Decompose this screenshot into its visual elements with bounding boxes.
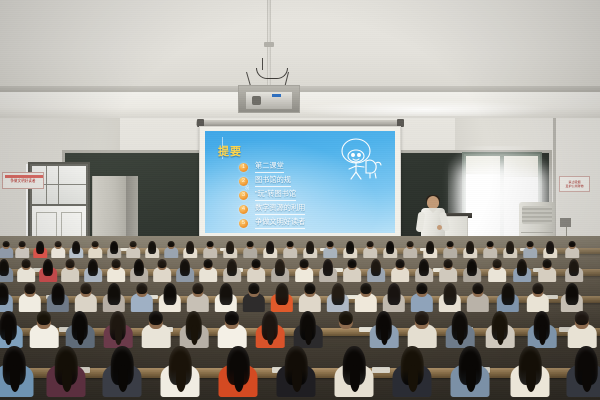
audience-member	[567, 344, 600, 395]
audience-member	[483, 240, 497, 258]
audience-member	[103, 344, 142, 395]
audience-member-hair	[148, 241, 156, 255]
audience-member	[497, 282, 519, 311]
audience-member	[47, 344, 86, 395]
audience-member-hair	[168, 241, 175, 248]
audience-member	[561, 282, 583, 311]
audience-member-hair	[72, 241, 80, 255]
audience-member-hair	[227, 259, 237, 277]
audience-member	[538, 258, 556, 281]
audience-member-hair	[415, 311, 429, 325]
audience-member	[0, 310, 22, 347]
audience-member	[370, 310, 399, 347]
desk-paper	[372, 367, 390, 374]
audience-member-hair	[360, 283, 371, 294]
audience-member-hair	[247, 241, 254, 248]
audience-member-hair	[569, 259, 579, 277]
slide-list-item: 4 数字资源的利用	[239, 202, 367, 216]
audience-member	[443, 240, 457, 258]
audience-member-hair	[276, 283, 289, 305]
audience-member	[319, 258, 337, 281]
slide-item-number: 1	[239, 163, 248, 172]
audience-member-ponytail	[118, 365, 129, 392]
audience-member-hair	[136, 283, 147, 294]
audience-member	[411, 282, 433, 311]
audience-member-hair	[108, 283, 121, 305]
audience-member-hair	[92, 241, 99, 248]
audience-member-hair	[226, 241, 234, 255]
audience-member-hair	[447, 241, 454, 248]
audience-member	[153, 258, 171, 281]
audience-member-hair	[52, 283, 65, 305]
audience-member-hair	[327, 241, 334, 248]
audience-member-hair	[287, 241, 294, 248]
audience-member	[367, 258, 385, 281]
projector-indicator-led	[272, 94, 281, 97]
audience-member	[130, 258, 148, 281]
slide-item-text: "玩"转图书馆	[255, 189, 296, 201]
audience-member	[439, 282, 461, 311]
audience-member	[51, 240, 65, 258]
audience-member-hair	[3, 241, 10, 248]
audience-member-ponytail	[526, 365, 537, 392]
audience-member	[243, 240, 257, 258]
audience-member-ponytail	[350, 365, 361, 392]
audience-member-hair	[487, 241, 494, 248]
audience-member	[17, 258, 35, 281]
audience-member	[30, 310, 59, 347]
slide-title: 提要	[218, 143, 242, 159]
audience-member	[39, 258, 57, 281]
audience-member-hair	[204, 259, 213, 268]
audience-member	[403, 240, 417, 258]
audience-member-hair	[186, 241, 194, 255]
audience-member	[283, 240, 297, 258]
audience-member-hair	[24, 283, 35, 294]
audience-member-hair	[346, 241, 354, 255]
audience-member-hair	[407, 241, 414, 248]
audience-member-hair	[164, 283, 177, 305]
classroom-photo: 争做文明好读者 禁止吸烟 爱护公共财物 提要	[0, 0, 600, 400]
audience-member	[218, 310, 247, 347]
audience-member-hair	[566, 283, 579, 305]
audience-member	[355, 282, 377, 311]
audience-member	[0, 258, 13, 281]
audience-member-hair	[323, 259, 333, 277]
audience-member	[187, 282, 209, 311]
audience-member	[295, 258, 313, 281]
audience-member	[543, 240, 557, 258]
audience-member	[88, 240, 102, 258]
slide-item-number: 4	[239, 205, 248, 214]
audience-member-hair	[371, 259, 381, 277]
audience-member	[75, 282, 97, 311]
audience-member-hair	[192, 283, 203, 294]
audience-member-ponytail	[292, 365, 303, 392]
audience-member	[126, 240, 140, 258]
projected-slide: 提要 1 第二课堂	[205, 131, 395, 233]
conduit-band	[264, 42, 274, 47]
audience-member-hair	[419, 259, 429, 277]
audience-member-hair	[300, 259, 309, 268]
audience-member-ponytail	[234, 365, 245, 392]
audience-member	[203, 240, 217, 258]
audience-member	[463, 240, 477, 258]
audience-member	[327, 282, 349, 311]
audience-member	[159, 282, 181, 311]
audience-member-hair	[112, 259, 121, 268]
audience-member	[84, 258, 102, 281]
left-wall-sign: 争做文明好读者	[2, 172, 44, 189]
audience-member	[271, 258, 289, 281]
audience-member	[263, 240, 277, 258]
audience-member-hair	[220, 283, 233, 305]
audience-member	[69, 240, 83, 258]
audience-member	[103, 282, 125, 311]
audience-member	[408, 310, 437, 347]
audience-member	[335, 344, 374, 395]
audience-member	[488, 258, 506, 281]
audience-member	[467, 282, 489, 311]
audience-member	[0, 282, 13, 311]
audience-member	[107, 240, 121, 258]
slide-item-number: 5	[239, 219, 248, 228]
right-wall-sign-line-2: 爱护公共财物	[565, 184, 583, 188]
audience-member-hair	[36, 241, 44, 255]
audience-member-hair	[502, 283, 515, 305]
audience-member	[19, 282, 41, 311]
audience-member	[243, 282, 265, 311]
audience-member-hair	[37, 311, 51, 325]
audience-member-hair	[396, 259, 405, 268]
audience-member-hair	[149, 311, 163, 325]
audience-member	[383, 240, 397, 258]
audience-member-hair	[180, 259, 190, 277]
presenter-hand	[437, 225, 442, 230]
audience-member	[503, 240, 517, 258]
slide-superscript-mark: 况	[245, 185, 249, 191]
audience-member	[528, 310, 557, 347]
audience-member	[164, 240, 178, 258]
ceiling-light-glow	[300, 100, 550, 116]
audience-member	[527, 282, 549, 311]
audience-member-hair	[444, 283, 457, 305]
audience-member	[107, 258, 125, 281]
audience-member	[161, 344, 200, 395]
audience-member-hair	[134, 259, 144, 277]
audience-member	[15, 240, 29, 258]
audience-member-hair	[388, 283, 401, 305]
audience-member	[446, 310, 475, 347]
audience-member	[343, 258, 361, 281]
audience-member	[391, 258, 409, 281]
audience-member-hair	[66, 259, 75, 268]
audience-member-hair	[225, 311, 239, 325]
audience-member-hair	[426, 241, 434, 255]
audience-member-hair	[348, 259, 357, 268]
audience-member-ponytail	[62, 365, 73, 392]
audience-member-hair	[275, 259, 285, 277]
window-blind[interactable]	[504, 156, 538, 177]
audience-member	[332, 310, 361, 347]
slide-item-text: 图书馆的规	[255, 175, 291, 187]
slide-list-item: 2 图书馆的规	[239, 174, 367, 188]
window-blind[interactable]	[466, 156, 500, 174]
audience-member-hair	[304, 283, 315, 294]
audience-member-hair	[493, 259, 502, 268]
audience-member	[33, 240, 47, 258]
audience-member-hair	[444, 259, 453, 268]
audience-member-hair	[306, 241, 314, 255]
slide-list-item: 1 第二课堂	[239, 160, 367, 174]
audience-member-hair	[22, 259, 31, 268]
audience-member	[463, 258, 481, 281]
audience-member-hair	[55, 241, 62, 248]
audience-member-hair	[367, 241, 374, 248]
audience-member-hair	[252, 259, 261, 268]
audience-member-hair	[266, 241, 274, 255]
audience-member	[511, 344, 550, 395]
slide-item-number: 3	[239, 191, 248, 200]
audience-member	[247, 258, 265, 281]
audience-member-ponytail	[176, 365, 187, 392]
audience-member	[299, 282, 321, 311]
audience-member	[223, 240, 237, 258]
audience-member-ponytail	[582, 365, 593, 392]
audience-member	[180, 310, 209, 347]
slide-item-text: 争做文明好读者	[255, 217, 305, 229]
audience-member	[303, 240, 317, 258]
audience-member-hair	[466, 241, 474, 255]
audience-member	[271, 282, 293, 311]
slide-item-text: 第二课堂	[255, 161, 284, 173]
audience-member-hair	[467, 259, 477, 277]
audience-member	[423, 240, 437, 258]
audience-member	[565, 240, 579, 258]
audience-member	[383, 282, 405, 311]
audience-member-hair	[248, 283, 259, 294]
audience-member	[513, 258, 531, 281]
audience-member-hair	[575, 311, 589, 325]
audience-member-hair	[386, 241, 394, 255]
audience-member-hair	[472, 283, 483, 294]
audience-member	[415, 258, 433, 281]
audience-member-hair	[0, 259, 9, 277]
audience-member-hair	[517, 259, 527, 277]
audience-member	[439, 258, 457, 281]
audience-member	[142, 310, 171, 347]
audience-member-hair	[416, 283, 427, 294]
projector-lens	[252, 96, 261, 105]
left-wall-sign-text: 争做文明好读者	[10, 178, 35, 184]
audience-member-ponytail	[466, 365, 477, 392]
audience-member	[568, 310, 597, 347]
audience-member	[61, 258, 79, 281]
audience-member-hair	[0, 283, 8, 305]
audience-member-hair	[88, 259, 98, 277]
audience-member-hair	[569, 241, 576, 248]
audience-member	[104, 310, 133, 347]
slide-outline-list: 1 第二课堂 2 图书馆的规 3 "玩"转图书馆 4 数字资源的利用 5 争做文…	[239, 160, 367, 230]
audience-member	[343, 240, 357, 258]
audience-member-hair	[110, 241, 118, 255]
audience-member-hair	[339, 311, 353, 325]
audience-member	[486, 310, 515, 347]
audience-member	[523, 240, 537, 258]
audience-member	[294, 310, 323, 347]
audience-member-hair	[532, 283, 543, 294]
audience-member	[256, 310, 285, 347]
audience-member	[0, 240, 13, 258]
audience-member	[277, 344, 316, 395]
right-wall-sign: 禁止吸烟 爱护公共财物	[559, 176, 590, 192]
audience-member	[215, 282, 237, 311]
audience-member-hair	[207, 241, 214, 248]
audience-member-hair	[332, 283, 345, 305]
door-mullion	[46, 166, 47, 204]
audience-member	[183, 240, 197, 258]
audience-member	[451, 344, 490, 395]
audience-member-ponytail	[10, 365, 21, 392]
audience-member	[223, 258, 241, 281]
slide-list-item: 5 争做文明好读者	[239, 216, 367, 230]
audience-member	[0, 344, 34, 395]
audience-member	[66, 310, 95, 347]
audience-member	[323, 240, 337, 258]
audience-member-hair	[506, 241, 514, 255]
electrical-conduit	[267, 0, 271, 96]
audience-member	[393, 344, 432, 395]
audience-member-ponytail	[408, 365, 419, 392]
audience-member	[363, 240, 377, 258]
audience-member	[199, 258, 217, 281]
seated-student-audience	[0, 236, 600, 400]
slide-list-item: 3 "玩"转图书馆	[239, 188, 367, 202]
audience-member	[565, 258, 583, 281]
audience-member-hair	[546, 241, 554, 255]
audience-member-hair	[527, 241, 534, 248]
audience-member-hair	[80, 283, 91, 294]
audience-member-hair	[158, 259, 167, 268]
audience-member-hair	[130, 241, 137, 248]
audience-member	[219, 344, 258, 395]
wall-mounted-box	[560, 218, 571, 227]
door-mullion	[58, 166, 59, 204]
audience-member-hair	[543, 259, 552, 268]
air-conditioner-seam	[521, 232, 553, 233]
audience-member	[176, 258, 194, 281]
audience-member-hair	[43, 259, 53, 277]
audience-member	[131, 282, 153, 311]
slide-item-text: 数字资源的利用	[255, 203, 305, 215]
audience-member	[145, 240, 159, 258]
audience-member	[47, 282, 69, 311]
air-conditioner-grille	[522, 206, 552, 224]
audience-member-hair	[19, 241, 26, 248]
